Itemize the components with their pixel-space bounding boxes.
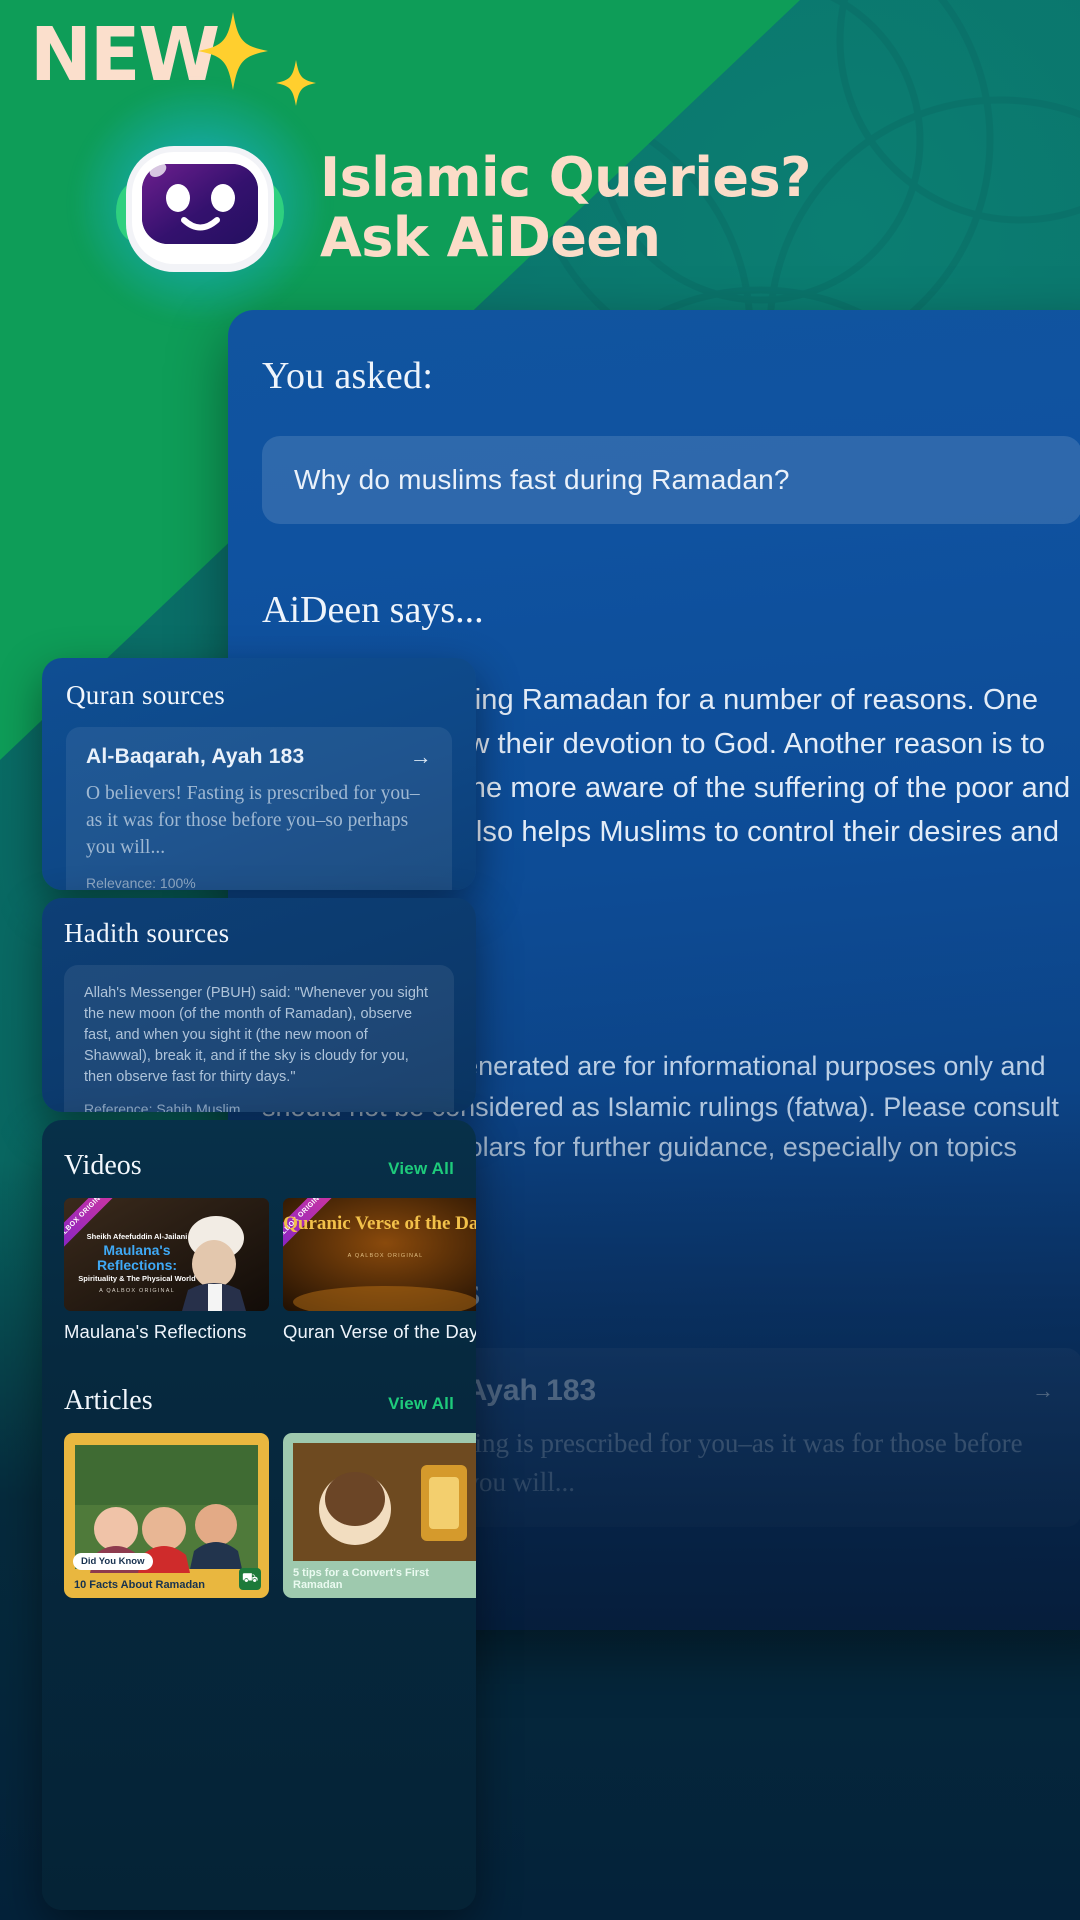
promo-screenshot: NEW Islamic Qu <box>0 0 1080 1920</box>
article-thumbnail[interactable]: Did You Know ⛟ 10 Facts About Ramadan <box>64 1433 269 1598</box>
video-overlay-title: Quranic Verse of the Day <box>283 1214 476 1233</box>
video-label: Maulana's Reflections <box>64 1321 269 1343</box>
video-thumbnail[interactable]: QALBOX ORIGINAL Sheikh Afeefuddin Al-Jai… <box>64 1198 269 1311</box>
hadith-source-quote: Allah's Messenger (PBUH) said: "Whenever… <box>84 983 434 1088</box>
videos-view-all-link[interactable]: View All <box>388 1159 454 1179</box>
aideen-robot-mascot <box>112 120 288 280</box>
hadith-sources-card: Hadith sources Allah's Messenger (PBUH) … <box>42 898 476 1112</box>
aideen-says-label: AiDeen says... <box>262 588 1080 632</box>
video-thumbnail[interactable]: QALBOX ORIGINAL Quranic Verse of the Day… <box>283 1198 476 1311</box>
video-overlay-subtitle: Spirituality & The Physical World <box>78 1274 196 1283</box>
video-item[interactable]: QALBOX ORIGINAL Quranic Verse of the Day… <box>283 1198 476 1343</box>
arrow-right-icon[interactable]: → <box>410 746 432 768</box>
quran-sources-title: Quran sources <box>66 680 452 711</box>
video-overlay-footer: A QALBOX ORIGINAL <box>78 1288 196 1294</box>
quran-source-relevance: Relevance: 100% <box>86 874 432 890</box>
hadith-source-reference: Reference: Sahih Muslim <box>84 1100 434 1112</box>
headline-line-1: Islamic Queries? <box>320 148 940 208</box>
quran-source-title: Al-Baqarah, Ayah 183 <box>86 745 304 769</box>
headline-line-2: Ask AiDeen <box>320 208 940 268</box>
articles-section-header: Articles View All <box>64 1385 454 1417</box>
articles-view-all-link[interactable]: View All <box>388 1394 454 1414</box>
article-item[interactable]: 5 tips for a Convert's First Ramadan <box>283 1433 476 1598</box>
article-thumbnail[interactable]: 5 tips for a Convert's First Ramadan <box>283 1433 476 1598</box>
video-item[interactable]: QALBOX ORIGINAL Sheikh Afeefuddin Al-Jai… <box>64 1198 269 1343</box>
arrow-right-icon[interactable]: → <box>1032 1380 1054 1402</box>
articles-list: Did You Know ⛟ 10 Facts About Ramadan <box>64 1433 454 1598</box>
videos-title: Videos <box>64 1150 142 1182</box>
article-caption-overlay: 10 Facts About Ramadan <box>74 1579 259 1592</box>
video-label: Quran Verse of the Day <box>283 1321 476 1343</box>
user-question-bubble: Why do muslims fast during Ramadan? <box>262 436 1080 524</box>
you-asked-label: You asked: <box>262 354 1080 398</box>
media-card: Videos View All QALBOX ORIGIN <box>42 1120 476 1910</box>
articles-title: Articles <box>64 1385 153 1417</box>
hadith-sources-title: Hadith sources <box>64 918 454 949</box>
video-overlay-presenter: Sheikh Afeefuddin Al-Jailani <box>78 1232 196 1241</box>
video-overlay-title: Maulana's Reflections: <box>78 1243 196 1272</box>
article-caption-overlay: 5 tips for a Convert's First Ramadan <box>293 1567 476 1592</box>
videos-section-header: Videos View All <box>64 1150 454 1182</box>
quran-source-quote: O believers! Fasting is prescribed for y… <box>86 781 432 862</box>
did-you-know-badge: Did You Know <box>73 1553 153 1570</box>
hadith-source-item[interactable]: Allah's Messenger (PBUH) said: "Whenever… <box>64 965 454 1112</box>
article-item[interactable]: Did You Know ⛟ 10 Facts About Ramadan <box>64 1433 269 1598</box>
video-overlay-footer: A QALBOX ORIGINAL <box>283 1253 476 1259</box>
videos-list: QALBOX ORIGINAL Sheikh Afeefuddin Al-Jai… <box>64 1198 454 1343</box>
quran-source-item[interactable]: Al-Baqarah, Ayah 183 → O believers! Fast… <box>66 727 452 890</box>
page-title: Islamic Queries? Ask AiDeen <box>320 148 940 269</box>
quran-sources-card: Quran sources Al-Baqarah, Ayah 183 → O b… <box>42 658 476 890</box>
